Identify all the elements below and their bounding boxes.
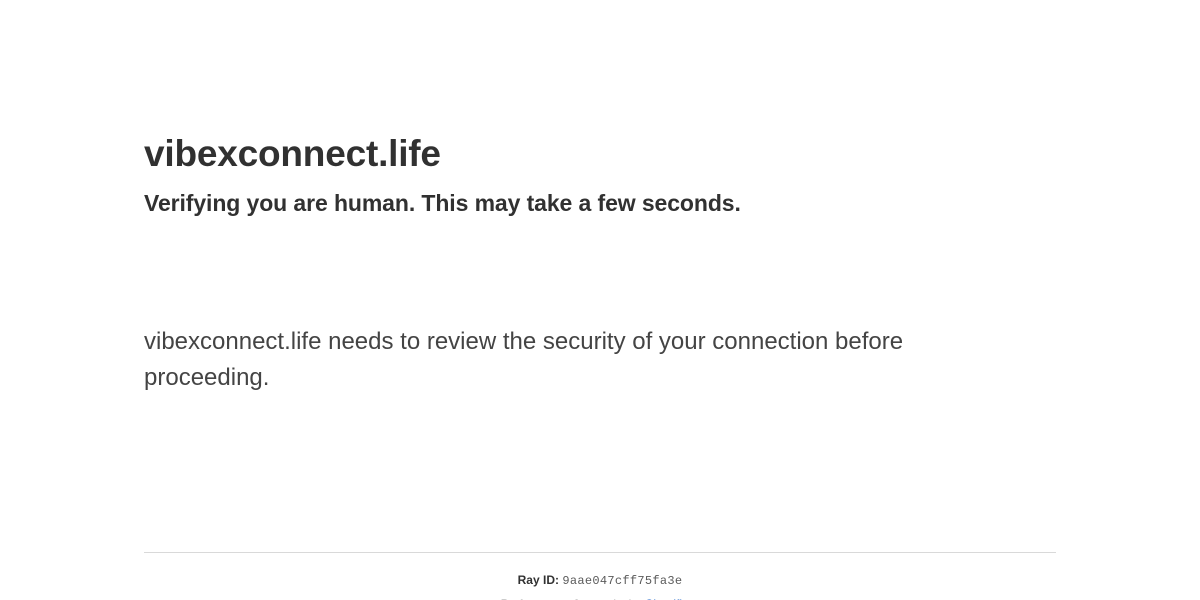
challenge-main-wrapper: vibexconnect.life Verifying you are huma… xyxy=(144,0,1056,396)
ray-id-value: 9aae047cff75fa3e xyxy=(562,574,682,588)
turnstile-widget-slot[interactable] xyxy=(144,245,446,310)
challenge-description-text: vibexconnect.life needs to review the se… xyxy=(144,324,944,396)
challenge-page: vibexconnect.life Verifying you are huma… xyxy=(0,0,1200,600)
page-title-hostname: vibexconnect.life xyxy=(144,132,1056,176)
ray-id-line: Ray ID: 9aae047cff75fa3e xyxy=(144,570,1056,591)
ray-id-label: Ray ID: xyxy=(518,573,559,587)
verification-status-heading: Verifying you are human. This may take a… xyxy=(144,189,1056,219)
challenge-main-content: vibexconnect.life Verifying you are huma… xyxy=(144,0,1056,396)
page-footer: Ray ID: 9aae047cff75fa3e Performance & s… xyxy=(144,552,1056,600)
footer-attribution-line: Performance & security by Cloudflare xyxy=(144,595,1056,600)
